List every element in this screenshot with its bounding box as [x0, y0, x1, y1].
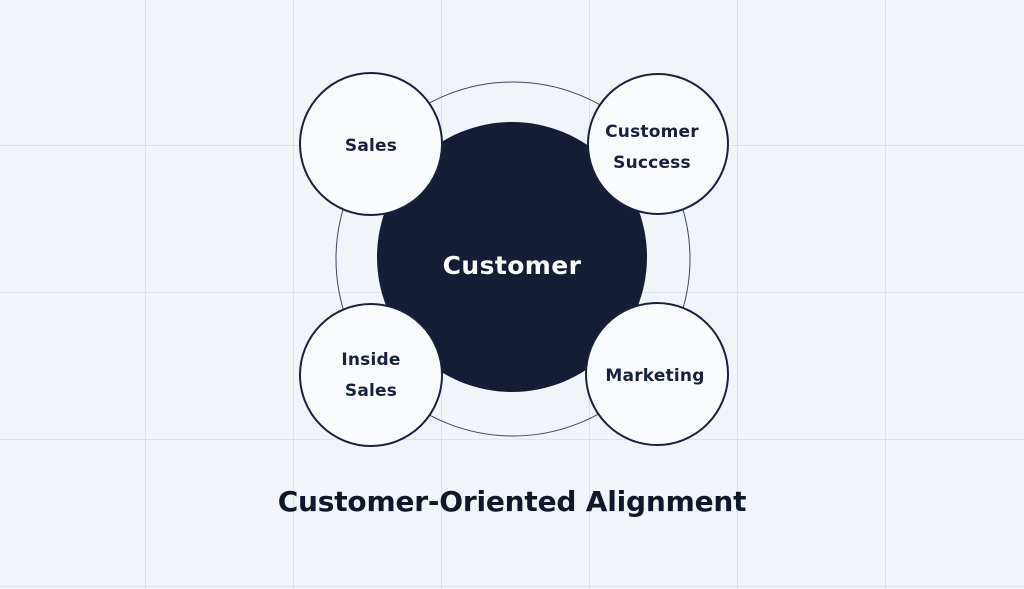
- diagram-canvas: Customer Sales Customer Success Inside S…: [0, 0, 1024, 589]
- node-label-customer-success-line1: Customer: [605, 122, 699, 142]
- diagram-caption: Customer-Oriented Alignment: [0, 483, 1024, 521]
- node-label-inside-sales-line1: Inside: [341, 350, 400, 370]
- node-label-marketing: Marketing: [605, 366, 704, 386]
- core-circle-label: Customer: [443, 251, 582, 280]
- node-circle-customer-success[interactable]: [588, 74, 728, 214]
- node-label-inside-sales-line2: Sales: [345, 381, 397, 401]
- node-label-customer-success-line2: Success: [613, 153, 691, 173]
- node-label-sales: Sales: [345, 136, 397, 156]
- node-circle-inside-sales[interactable]: [300, 304, 442, 446]
